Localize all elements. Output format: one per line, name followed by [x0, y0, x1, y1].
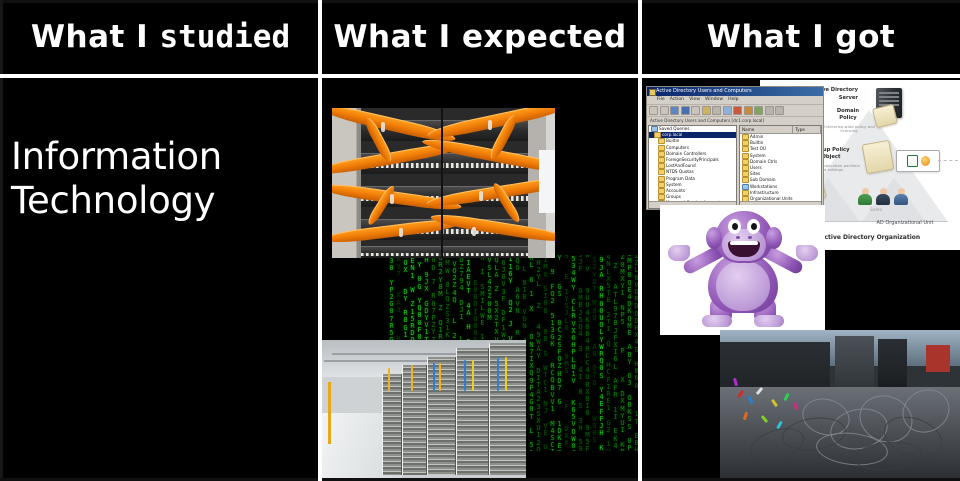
show-tree-icon[interactable] — [681, 106, 690, 115]
header-studied-emphasis: studied — [159, 19, 290, 55]
export-icon[interactable] — [691, 106, 700, 115]
left-edge — [0, 0, 3, 481]
black-gap-left-lower — [642, 335, 720, 481]
properties-icon[interactable] — [702, 106, 711, 115]
top-edge — [0, 0, 960, 3]
matrix-rain-column: C Q 6 O M P 8 Q E 4 D K Q M E A B Y 6 3 … — [626, 255, 633, 451]
menu-action[interactable]: Action — [670, 97, 684, 102]
unit-label-sales: Sales — [856, 208, 896, 213]
new-ou-icon[interactable] — [754, 106, 763, 115]
active-directory-users-and-computers-window[interactable]: Active Directory Users and Computers Fil… — [646, 86, 824, 210]
matrix-rain-column: S 6 T Z A T L 9 7 B J F X I 6 L A F R 1 … — [612, 255, 619, 451]
menu-view[interactable]: View — [689, 97, 700, 102]
list-header-name[interactable]: Name — [740, 126, 793, 133]
matrix-rain-column: E H L 6 1 X O N 7 I X Q 9 P 4 G 8 T L 5 … — [528, 255, 535, 451]
matrix-rain-column: 9 J F O M B J 5 Q 4 3 4 I 8 S 3 H 5 9 1 … — [577, 255, 584, 451]
matrix-rain-column: F 1 M X S I 8 8 0 B S W T C 1 N J V E U … — [542, 255, 549, 451]
header-cell-studied: What I studied — [3, 0, 318, 74]
tree-pane[interactable]: Saved Queries corp.local Builtin Compute… — [648, 125, 737, 209]
subject-label-line1: Information — [11, 135, 222, 179]
up-icon[interactable] — [670, 106, 679, 115]
menu-window[interactable]: Window — [705, 97, 723, 102]
gpo-scroll-icon — [862, 140, 895, 174]
list-header-type[interactable]: Type — [793, 126, 821, 133]
list-pane[interactable]: Name Type Admin Builtin Test OU System D… — [739, 125, 822, 209]
header-divider-horizontal — [0, 74, 960, 78]
matrix-rain-column: 9 F O 2 5 1 3 G K R C Q B V V 1 M 4 S C … — [549, 255, 556, 451]
matrix-rain-column: X 4 N L X 5 T E 2 T I Q H C F I R E 1 G … — [605, 255, 612, 451]
messy-cable-spaghetti-image — [720, 330, 960, 481]
menu-bar[interactable]: FileActionViewWindowHelp — [647, 96, 823, 105]
header-got-prefix: What I — [707, 19, 836, 55]
header-expected-emphasis: expected — [462, 19, 627, 55]
menu-file[interactable]: File — [657, 97, 665, 102]
header-cell-got: What I got — [642, 0, 960, 74]
clean-datacenter-aisle-image — [320, 340, 526, 481]
user-icon-1 — [858, 188, 872, 205]
new-user-icon[interactable] — [733, 106, 742, 115]
new-group-icon[interactable] — [744, 106, 753, 115]
matrix-rain-column: 3 A 9 J A R H 0 0 U O L Y W R Q 0 S Y 4 … — [598, 255, 605, 451]
orange-fiber-patch-panel-image — [332, 108, 555, 258]
generic-app-icon — [921, 156, 930, 166]
matrix-rain-column: E R R 9 E I Y 5 J L 0 9 M S F D X X A F — [563, 255, 570, 451]
tier-domain-title2: Policy — [820, 116, 876, 122]
filter-icon[interactable] — [775, 106, 784, 115]
header-got-emphasis: got — [835, 19, 895, 55]
help-icon[interactable] — [723, 106, 732, 115]
toolbar[interactable] — [647, 105, 823, 117]
subject-label: Information Technology — [11, 135, 222, 222]
matrix-rain-column: 0 4 9 Y 5 3 4 W Y C L R V X 6 H P L U 1 … — [570, 255, 577, 451]
user-icon-2 — [876, 188, 890, 205]
header-expected-prefix: What I — [333, 19, 462, 55]
header-cell-expected: What I expected — [322, 0, 638, 74]
find-icon[interactable] — [765, 106, 774, 115]
matrix-rain-column: W V 9 U U 4 K 8 B 4 R C C 4 U R X 8 I 8 … — [584, 255, 591, 451]
tier-domain-subtitle: Enterprise-wide policy and licensing — [820, 125, 878, 134]
forward-icon[interactable] — [660, 106, 669, 115]
matrix-rain-column: H S 2 Y A T M 0 U A 8 Q 7 D W 9 H S Z W … — [591, 255, 598, 451]
list-header-row[interactable]: Name Type — [740, 126, 821, 134]
menu-help[interactable]: Help — [728, 97, 738, 102]
column-divider-2 — [638, 0, 642, 481]
bonzibuddy-purple-gorilla-image — [660, 205, 825, 335]
unit-axis-label: AD Organizational Unit — [860, 221, 950, 227]
black-gap-right-upper — [825, 250, 960, 330]
refresh-icon[interactable] — [712, 106, 721, 115]
back-icon[interactable] — [649, 106, 658, 115]
meme-image: What I studied What I expected What I go… — [0, 0, 960, 481]
column-body-studied: Information Technology — [3, 78, 318, 481]
matrix-rain-column: X 1 Z 0 M X Y 1 N P 5 P X D X M Y U I K … — [619, 255, 626, 451]
window-title-bar[interactable]: Active Directory Users and Computers — [647, 87, 823, 96]
bonzi-figure — [660, 205, 825, 335]
matrix-rain-column: 0 1 H 2 Y L Z 4 9 W A Y D I T A 2 3 S X … — [535, 255, 542, 451]
excel-app-icon — [907, 155, 918, 167]
address-breadcrumb: Active Directory Users and Computers [dc… — [647, 117, 823, 124]
column-divider-1 — [318, 0, 322, 481]
header-studied-prefix: What I — [31, 19, 160, 55]
matrix-rain-column: S Y G S 0 C 2 S F O Z H D 7 G 1 D K E 8 … — [556, 255, 563, 451]
user-icon-3 — [894, 188, 908, 205]
gpo-app-box-right — [896, 150, 940, 172]
subject-label-line2: Technology — [11, 179, 222, 223]
